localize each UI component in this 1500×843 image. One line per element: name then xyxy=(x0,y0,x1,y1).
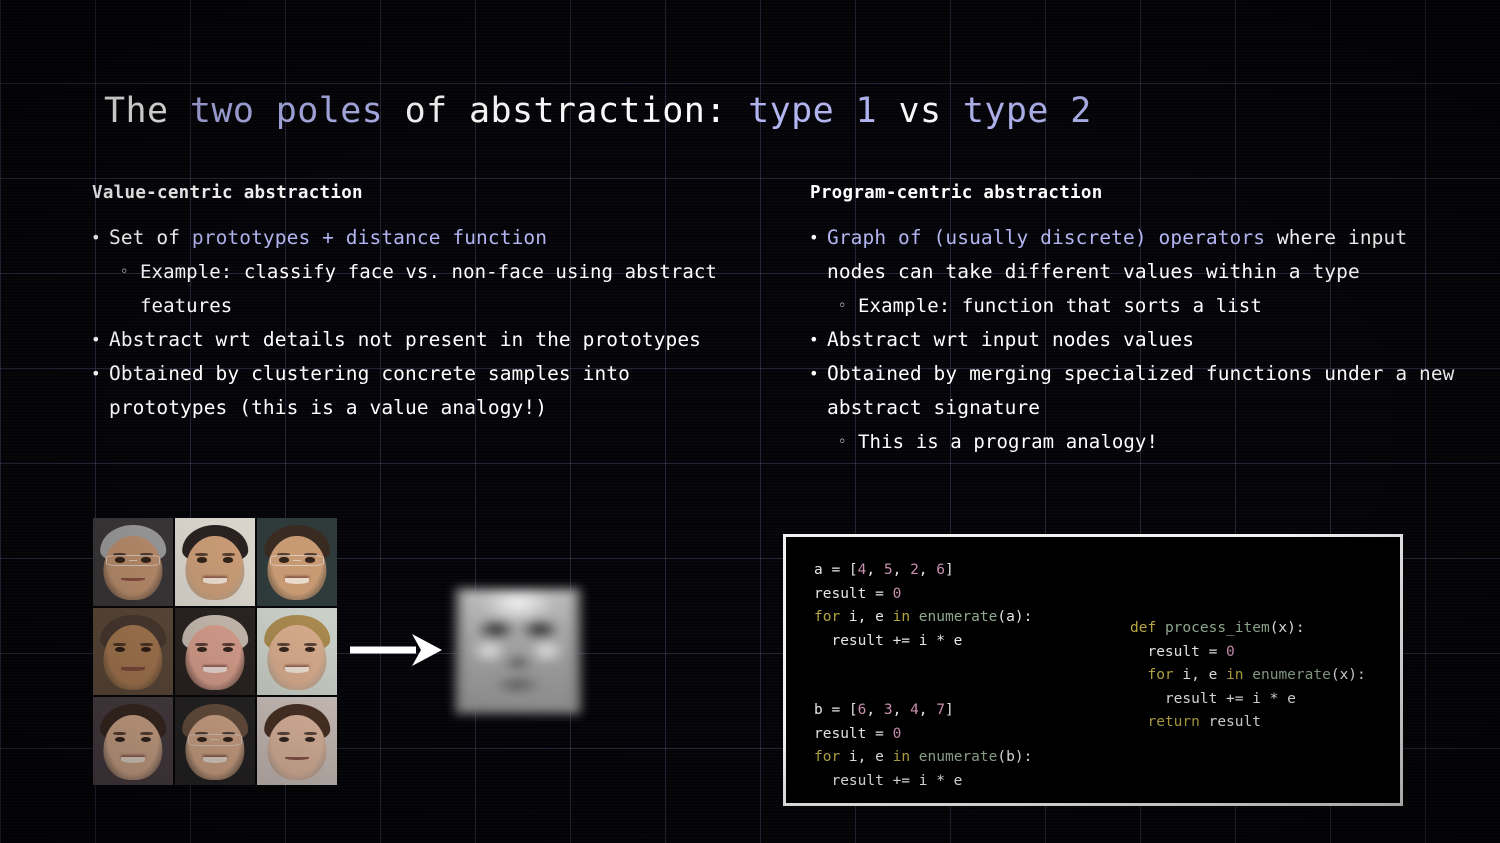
sub-bullet-marker-icon: ◦ xyxy=(838,289,847,323)
glasses-icon xyxy=(106,555,160,567)
code-token: result = xyxy=(814,726,893,742)
code-token: 0 xyxy=(1226,644,1235,660)
face-photo-9 xyxy=(257,697,337,785)
code-token: 0 xyxy=(893,586,902,602)
code-fn-line-1: result = 0 xyxy=(1130,641,1366,665)
code-token: process_item xyxy=(1165,620,1270,636)
right-bullet-0: •Graph of (usually discrete) operators w… xyxy=(806,221,1466,289)
code-token: 4 xyxy=(910,702,919,718)
code-fn-line-3: result += i * e xyxy=(1130,688,1366,712)
code-b-line-2: for i, e in enumerate(b): xyxy=(814,746,1032,770)
right-column-heading: Program-centric abstraction xyxy=(810,183,1466,203)
code-b-line-3: result += i * e xyxy=(814,770,1032,794)
right-bullet-2-seg-0: Abstract wrt input nodes values xyxy=(827,328,1194,351)
code-block-b: b = [6, 3, 4, 7]result = 0for i, e in en… xyxy=(814,699,1032,793)
code-token: for xyxy=(814,609,840,625)
code-a-line-2: for i, e in enumerate(a): xyxy=(814,606,1032,630)
code-token: result += i * e xyxy=(814,773,962,789)
code-fn-line-2: for i, e in enumerate(x): xyxy=(1130,664,1366,688)
title-segment-0: The xyxy=(104,91,190,131)
face-photo-8 xyxy=(175,697,255,785)
average-face-prototype xyxy=(455,588,581,714)
code-block-a: a = [4, 5, 2, 6]result = 0for i, e in en… xyxy=(814,559,1032,653)
code-token: a = [ xyxy=(814,562,858,578)
right-bullet-list: •Graph of (usually discrete) operators w… xyxy=(806,221,1466,459)
code-token: 0 xyxy=(893,726,902,742)
left-bullet-0-seg-1: prototypes + distance function xyxy=(192,226,547,249)
left-bullet-1: ◦Example: classify face vs. non-face usi… xyxy=(88,255,748,323)
left-bullet-list: •Set of prototypes + distance function◦E… xyxy=(88,221,748,425)
title-segment-2: of abstraction: xyxy=(383,91,748,131)
right-bullet-0-seg-0: Graph of (usually discrete) operators xyxy=(827,226,1265,249)
face-photo-5 xyxy=(175,608,255,696)
left-column-heading: Value-centric abstraction xyxy=(92,183,748,203)
title-segment-4: vs xyxy=(877,91,963,131)
left-bullet-2: •Abstract wrt details not present in the… xyxy=(88,323,748,357)
code-token: 5 xyxy=(884,562,893,578)
face-photo-4 xyxy=(93,608,173,696)
code-token: return xyxy=(1147,714,1199,730)
code-token: in xyxy=(1226,667,1243,683)
face-photo-6 xyxy=(257,608,337,696)
code-token: in xyxy=(893,749,910,765)
code-token: result += i * e xyxy=(814,633,962,649)
bullet-marker-icon: • xyxy=(91,221,101,255)
bullet-marker-icon: • xyxy=(809,221,819,255)
left-bullet-2-seg-0: Abstract wrt details not present in the … xyxy=(109,328,701,351)
code-token: result xyxy=(1200,714,1261,730)
code-a-line-3: result += i * e xyxy=(814,630,1032,654)
code-a-line-0: a = [4, 5, 2, 6] xyxy=(814,559,1032,583)
sub-bullet-marker-icon: ◦ xyxy=(120,255,129,289)
sub-bullet-marker-icon: ◦ xyxy=(838,425,847,459)
face-photo-7 xyxy=(93,697,173,785)
code-token: , xyxy=(893,702,910,718)
face-sample-grid xyxy=(93,518,337,785)
glasses-icon xyxy=(270,555,324,567)
code-token xyxy=(1130,667,1147,683)
code-token: ] xyxy=(945,702,954,718)
left-bullet-3-seg-0: Obtained by clustering concrete samples … xyxy=(109,362,630,419)
code-token: 2 xyxy=(910,562,919,578)
right-bullet-1-seg-0: Example: function that sorts a list xyxy=(858,295,1262,317)
right-column: Program-centric abstraction •Graph of (u… xyxy=(806,183,1466,459)
right-bullet-2: •Abstract wrt input nodes values xyxy=(806,323,1466,357)
title-segment-5: type 2 xyxy=(963,91,1092,131)
left-bullet-0-seg-0: Set of xyxy=(109,226,192,249)
code-token: (x): xyxy=(1270,620,1305,636)
left-column: Value-centric abstraction •Set of protot… xyxy=(88,183,748,425)
code-token: (x): xyxy=(1331,667,1366,683)
right-bullet-4: ◦This is a program analogy! xyxy=(806,425,1466,459)
code-token: result += i * e xyxy=(1130,691,1296,707)
right-bullet-3: •Obtained by merging specialized functio… xyxy=(806,357,1466,425)
code-token xyxy=(1244,667,1253,683)
code-token: i, e xyxy=(840,749,892,765)
face-photo-1 xyxy=(93,518,173,606)
right-bullet-3-seg-0: Obtained by merging specialized function… xyxy=(827,362,1455,419)
code-token xyxy=(1156,620,1165,636)
code-a-line-1: result = 0 xyxy=(814,583,1032,607)
code-token: in xyxy=(893,609,910,625)
code-token: 7 xyxy=(936,702,945,718)
code-token xyxy=(910,749,919,765)
code-token: enumerate xyxy=(919,609,998,625)
code-token: b = [ xyxy=(814,702,858,718)
right-bullet-1: ◦Example: function that sorts a list xyxy=(806,289,1466,323)
glasses-icon xyxy=(188,734,242,746)
code-token: enumerate xyxy=(919,749,998,765)
program-abstraction-code-panel: a = [4, 5, 2, 6]result = 0for i, e in en… xyxy=(783,534,1403,806)
code-token: , xyxy=(919,702,936,718)
left-bullet-1-seg-0: Example: classify face vs. non-face usin… xyxy=(140,261,717,317)
code-token: for xyxy=(814,749,840,765)
code-b-line-1: result = 0 xyxy=(814,723,1032,747)
title-segment-1: two poles xyxy=(190,91,383,131)
code-token xyxy=(1130,714,1147,730)
code-token: 6 xyxy=(936,562,945,578)
right-bullet-4-seg-0: This is a program analogy! xyxy=(858,431,1158,453)
code-token: 3 xyxy=(884,702,893,718)
code-token: (a): xyxy=(997,609,1032,625)
code-fn-line-0: def process_item(x): xyxy=(1130,617,1366,641)
code-token: ] xyxy=(945,562,954,578)
left-bullet-0: •Set of prototypes + distance function xyxy=(88,221,748,255)
code-token xyxy=(910,609,919,625)
code-token: def xyxy=(1130,620,1156,636)
bullet-marker-icon: • xyxy=(809,323,819,357)
clustering-arrow-icon xyxy=(350,630,442,670)
page-title: The two poles of abstraction: type 1 vs … xyxy=(104,85,1092,137)
slide-canvas: The two poles of abstraction: type 1 vs … xyxy=(0,0,1500,843)
code-token: for xyxy=(1147,667,1173,683)
face-photo-2 xyxy=(175,518,255,606)
left-bullet-3: •Obtained by clustering concrete samples… xyxy=(88,357,748,425)
title-segment-3: type 1 xyxy=(748,91,877,131)
code-token: , xyxy=(866,702,883,718)
code-token: i, e xyxy=(840,609,892,625)
code-token: , xyxy=(866,562,883,578)
bullet-marker-icon: • xyxy=(91,323,101,357)
code-block-function: def process_item(x): result = 0 for i, e… xyxy=(1130,617,1366,735)
code-token: i, e xyxy=(1174,667,1226,683)
bullet-marker-icon: • xyxy=(91,357,101,391)
code-token: result = xyxy=(1130,644,1226,660)
code-token: , xyxy=(919,562,936,578)
code-fn-line-4: return result xyxy=(1130,711,1366,735)
code-token: , xyxy=(893,562,910,578)
code-b-line-0: b = [6, 3, 4, 7] xyxy=(814,699,1032,723)
face-photo-3 xyxy=(257,518,337,606)
bullet-marker-icon: • xyxy=(809,357,819,391)
code-token: enumerate xyxy=(1252,667,1331,683)
code-token: result = xyxy=(814,586,893,602)
code-token: (b): xyxy=(997,749,1032,765)
